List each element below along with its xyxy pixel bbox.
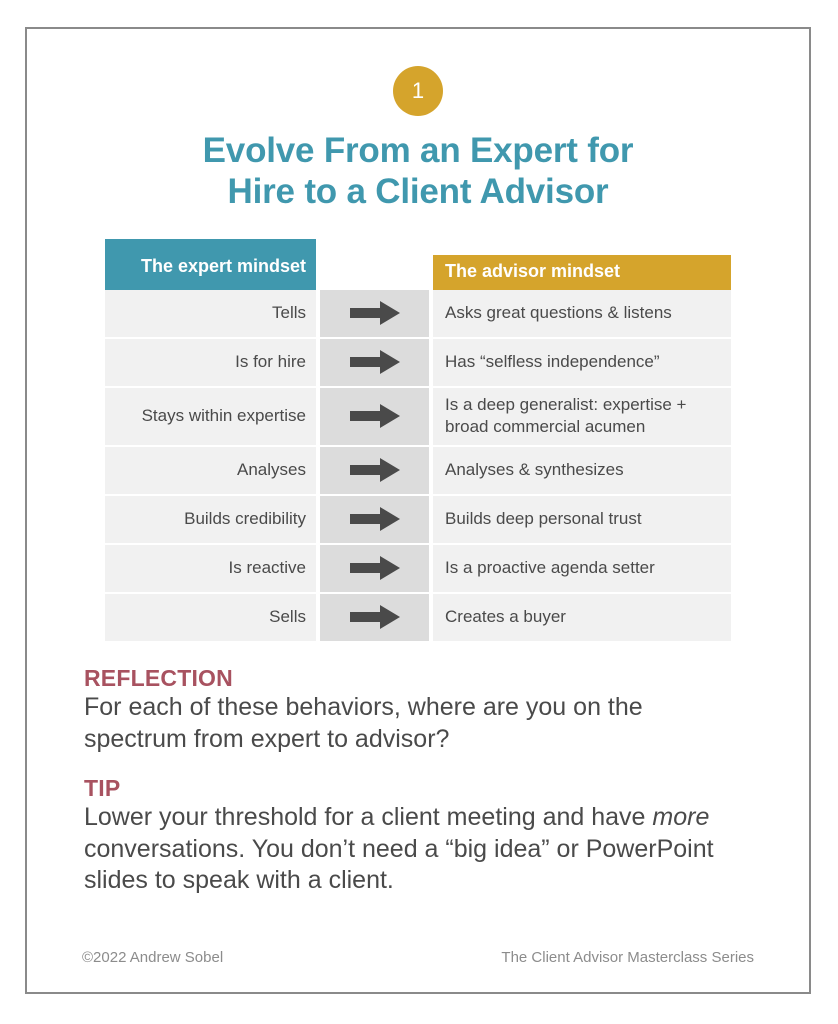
right-arrow-icon <box>350 403 400 429</box>
page-title-line-1: Evolve From an Expert for <box>82 130 754 171</box>
table-row: Is for hire Has “selfless independence” <box>105 339 731 388</box>
arrow-cell <box>316 447 433 494</box>
arrow-cell <box>316 545 433 592</box>
tip-section: TIP Lower your threshold for a client me… <box>82 775 754 897</box>
tip-body-part-1: Lower your threshold for a client meetin… <box>84 803 652 831</box>
table-body: Tells Asks great questions & listens Is … <box>105 290 731 641</box>
badge-container: 1 <box>82 29 754 116</box>
table-row: Analyses Analyses & synthesizes <box>105 447 731 496</box>
tip-heading: TIP <box>84 775 752 801</box>
right-arrow-icon <box>350 300 400 326</box>
right-arrow-icon <box>350 506 400 532</box>
advisor-cell: Is a deep generalist: expertise + broad … <box>433 388 731 445</box>
worksheet-page: 1 Evolve From an Expert for Hire to a Cl… <box>0 0 838 1024</box>
arrow-cell <box>316 339 433 386</box>
right-arrow-icon <box>350 349 400 375</box>
tip-body-part-2: conversations. You don’t need a “big ide… <box>84 835 714 895</box>
advisor-cell: Is a proactive agenda setter <box>433 545 731 592</box>
expert-cell: Is for hire <box>105 339 316 386</box>
expert-cell: Is reactive <box>105 545 316 592</box>
mindset-comparison-table: The expert mindset The advisor mindset T… <box>105 239 731 641</box>
column-header-spacer <box>316 239 433 290</box>
tip-body-emphasis: more <box>652 803 709 831</box>
advisor-cell: Builds deep personal trust <box>433 496 731 543</box>
table-header-row: The expert mindset The advisor mindset <box>105 239 731 290</box>
series-text: The Client Advisor Masterclass Series <box>501 949 754 966</box>
expert-cell: Builds credibility <box>105 496 316 543</box>
arrow-cell <box>316 594 433 641</box>
expert-cell: Sells <box>105 594 316 641</box>
table-row: Builds credibility Builds deep personal … <box>105 496 731 545</box>
right-arrow-icon <box>350 457 400 483</box>
arrow-cell <box>316 290 433 337</box>
expert-cell: Stays within expertise <box>105 388 316 445</box>
copyright-text: ©2022 Andrew Sobel <box>82 949 223 966</box>
arrow-cell <box>316 496 433 543</box>
column-header-expert: The expert mindset <box>105 239 316 290</box>
step-number-text: 1 <box>412 80 424 102</box>
advisor-cell: Asks great questions & listens <box>433 290 731 337</box>
right-arrow-icon <box>350 604 400 630</box>
page-footer: ©2022 Andrew Sobel The Client Advisor Ma… <box>82 949 754 966</box>
expert-cell: Tells <box>105 290 316 337</box>
advisor-cell: Analyses & synthesizes <box>433 447 731 494</box>
tip-body: Lower your threshold for a client meetin… <box>84 802 752 897</box>
expert-cell: Analyses <box>105 447 316 494</box>
card-frame: 1 Evolve From an Expert for Hire to a Cl… <box>25 27 811 994</box>
table-row: Is reactive Is a proactive agenda setter <box>105 545 731 594</box>
reflection-heading: REFLECTION <box>84 665 752 691</box>
step-number-badge: 1 <box>393 66 443 116</box>
page-title-line-2: Hire to a Client Advisor <box>82 171 754 212</box>
advisor-cell: Has “selfless independence” <box>433 339 731 386</box>
table-row: Stays within expertise Is a deep general… <box>105 388 731 447</box>
reflection-section: REFLECTION For each of these behaviors, … <box>82 665 754 755</box>
page-title: Evolve From an Expert for Hire to a Clie… <box>82 130 754 213</box>
reflection-body: For each of these behaviors, where are y… <box>84 692 752 755</box>
arrow-cell <box>316 388 433 445</box>
column-header-advisor: The advisor mindset <box>433 255 731 290</box>
right-arrow-icon <box>350 555 400 581</box>
card-content: 1 Evolve From an Expert for Hire to a Cl… <box>27 29 809 992</box>
table-row: Tells Asks great questions & listens <box>105 290 731 339</box>
advisor-cell: Creates a buyer <box>433 594 731 641</box>
table-row: Sells Creates a buyer <box>105 594 731 641</box>
